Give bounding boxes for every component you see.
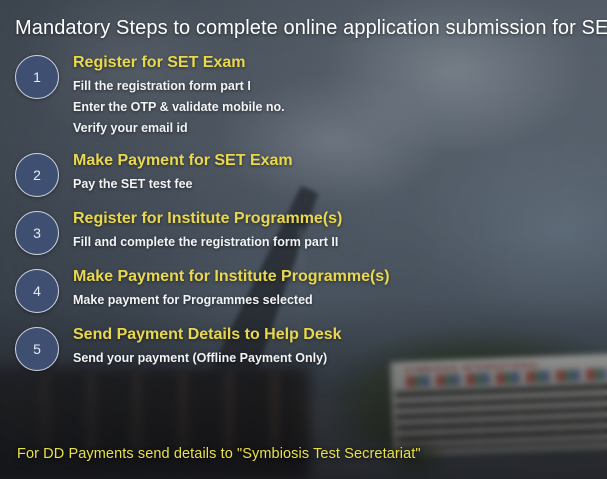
step-item-5: 5 Send Payment Details to Help Desk Send… [0, 324, 607, 371]
step-line: Send your payment (Offline Payment Only) [73, 348, 607, 369]
step-number-badge-1: 1 [15, 55, 59, 99]
step-body-1: Register for SET Exam Fill the registrat… [59, 52, 607, 139]
step-title-5: Send Payment Details to Help Desk [73, 324, 607, 346]
step-title-4: Make Payment for Institute Programme(s) [73, 266, 607, 288]
promo-banner: SYMBIOSIS INTERNATIONAL Mandatory Steps … [0, 0, 607, 479]
step-lines-2: Pay the SET test fee [73, 174, 607, 195]
step-line: Make payment for Programmes selected [73, 290, 607, 311]
step-line: Pay the SET test fee [73, 174, 607, 195]
step-number-badge-5: 5 [15, 327, 59, 371]
step-number-badge-2: 2 [15, 153, 59, 197]
step-lines-3: Fill and complete the registration form … [73, 232, 607, 253]
step-line: Fill and complete the registration form … [73, 232, 607, 253]
step-lines-4: Make payment for Programmes selected [73, 290, 607, 311]
step-number-badge-4: 4 [15, 269, 59, 313]
step-body-3: Register for Institute Programme(s) Fill… [59, 208, 607, 253]
step-lines-5: Send your payment (Offline Payment Only) [73, 348, 607, 369]
step-body-2: Make Payment for SET Exam Pay the SET te… [59, 150, 607, 195]
step-item-4: 4 Make Payment for Institute Programme(s… [0, 266, 607, 313]
step-line: Verify your email id [73, 118, 607, 139]
step-title-3: Register for Institute Programme(s) [73, 208, 607, 230]
step-line: Fill the registration form part I [73, 76, 607, 97]
step-number-badge-3: 3 [15, 211, 59, 255]
steps-list: 1 Register for SET Exam Fill the registr… [0, 52, 607, 382]
step-title-1: Register for SET Exam [73, 52, 607, 74]
step-item-2: 2 Make Payment for SET Exam Pay the SET … [0, 150, 607, 197]
step-body-4: Make Payment for Institute Programme(s) … [59, 266, 607, 311]
step-line: Enter the OTP & validate mobile no. [73, 97, 607, 118]
step-title-2: Make Payment for SET Exam [73, 150, 607, 172]
step-lines-1: Fill the registration form part I Enter … [73, 76, 607, 139]
page-title: Mandatory Steps to complete online appli… [15, 17, 607, 40]
dd-payments-note: For DD Payments send details to "Symbios… [17, 446, 421, 462]
step-item-3: 3 Register for Institute Programme(s) Fi… [0, 208, 607, 255]
banner-content: Mandatory Steps to complete online appli… [0, 0, 607, 479]
step-body-5: Send Payment Details to Help Desk Send y… [59, 324, 607, 369]
step-item-1: 1 Register for SET Exam Fill the registr… [0, 52, 607, 139]
